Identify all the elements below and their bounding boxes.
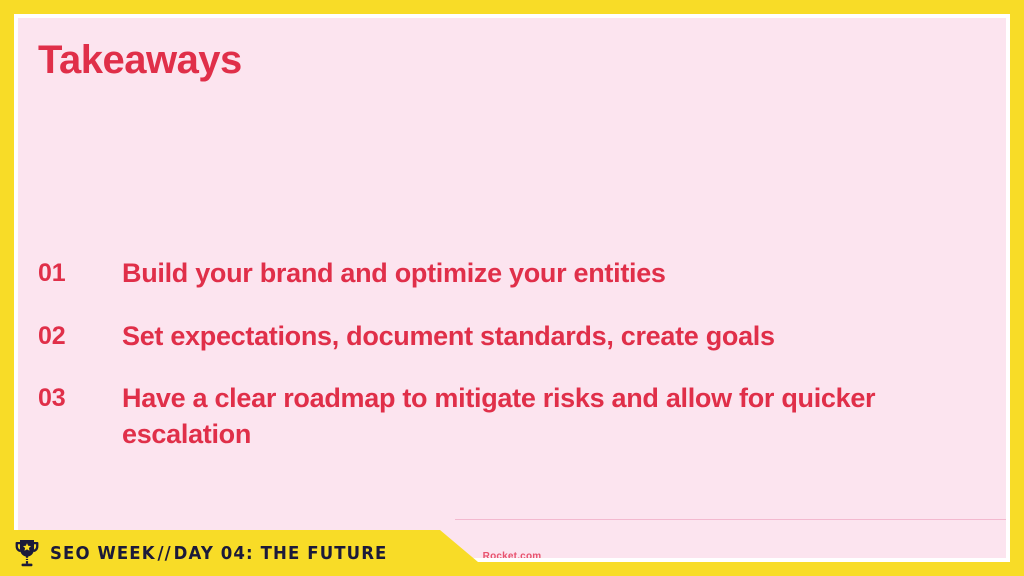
trophy-icon <box>14 538 40 568</box>
footer-label: SEO WEEK//DAY 04: THE FUTURE <box>50 543 387 564</box>
list-item: 01 Build your brand and optimize your en… <box>38 256 976 292</box>
footer-session: DAY 04: THE FUTURE <box>174 543 388 564</box>
slide-content-area: Takeaways 01 Build your brand and optimi… <box>18 18 1006 558</box>
list-item-number: 02 <box>38 319 122 355</box>
list-item: 02 Set expectations, document standards,… <box>38 319 976 355</box>
footer-bar: SEO WEEK//DAY 04: THE FUTURE <box>0 530 478 576</box>
list-item-number: 03 <box>38 381 122 417</box>
list-item-text: Set expectations, document standards, cr… <box>122 319 932 355</box>
page-title: Takeaways <box>38 40 242 80</box>
list-item-text: Have a clear roadmap to mitigate risks a… <box>122 381 932 452</box>
list-item-number: 01 <box>38 256 122 292</box>
footer-separator: // <box>156 543 174 564</box>
footer-brand: SEO WEEK <box>50 543 156 564</box>
slide: Takeaways 01 Build your brand and optimi… <box>0 0 1024 576</box>
list-item: 03 Have a clear roadmap to mitigate risk… <box>38 381 976 452</box>
list-item-text: Build your brand and optimize your entit… <box>122 256 932 292</box>
footer-divider <box>455 519 1006 520</box>
takeaways-list: 01 Build your brand and optimize your en… <box>38 256 976 453</box>
